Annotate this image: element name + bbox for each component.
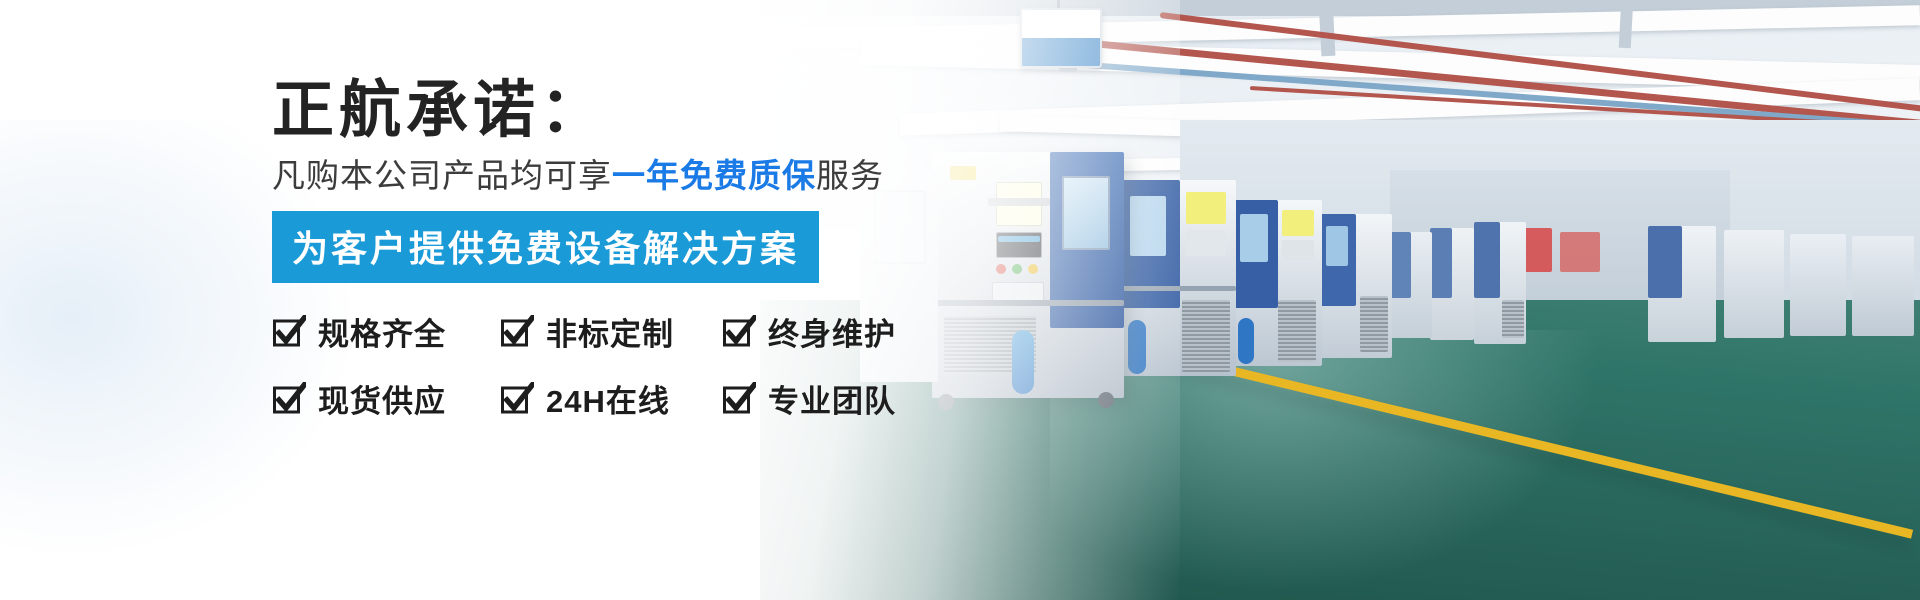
feature-item: 终身维护 [722,309,896,354]
subheadline-prefix: 凡购本公司产品均可享 [272,157,612,194]
checkbox-checked-icon [272,382,306,416]
checkbox-checked-icon [722,315,756,349]
promise-bar: 为客户提供免费设备解决方案 [272,211,819,283]
checkbox-checked-icon [500,315,534,349]
feature-item: 现货供应 [272,376,500,421]
subheadline-highlight: 一年免费质保 [612,157,816,194]
page-title: 正航承诺： [272,78,972,143]
feature-label: 规格齐全 [318,309,446,354]
promise-bar-label: 为客户提供免费设备解决方案 [292,228,799,269]
ceiling-strut [1619,0,1633,48]
feature-label: 24H在线 [546,376,670,421]
checkbox-checked-icon [500,382,534,416]
checkbox-checked-icon [272,315,306,349]
wall-sign-red [1560,232,1600,272]
feature-row: 规格齐全 非标定制 [272,309,972,354]
feature-item: 规格齐全 [272,309,500,354]
feature-item: 非标定制 [500,309,722,354]
checkbox-checked-icon [722,382,756,416]
subheadline: 凡购本公司产品均可享一年免费质保服务 [272,157,972,195]
ceiling-strut [1319,0,1336,56]
feature-label: 非标定制 [546,309,674,354]
banner-content: 正航承诺： 凡购本公司产品均可享一年免费质保服务 为客户提供免费设备解决方案 规… [272,78,972,443]
feature-label: 终身维护 [768,309,896,354]
promo-banner: 正航承诺： 凡购本公司产品均可享一年免费质保服务 为客户提供免费设备解决方案 规… [0,0,1920,600]
feature-item: 24H在线 [500,376,722,421]
feature-list: 规格齐全 非标定制 [272,309,972,421]
subheadline-suffix: 服务 [816,157,884,194]
feature-label: 现货供应 [318,376,446,421]
feature-item: 专业团队 [722,376,896,421]
feature-label: 专业团队 [768,376,896,421]
feature-row: 现货供应 24H在线 [272,376,972,421]
